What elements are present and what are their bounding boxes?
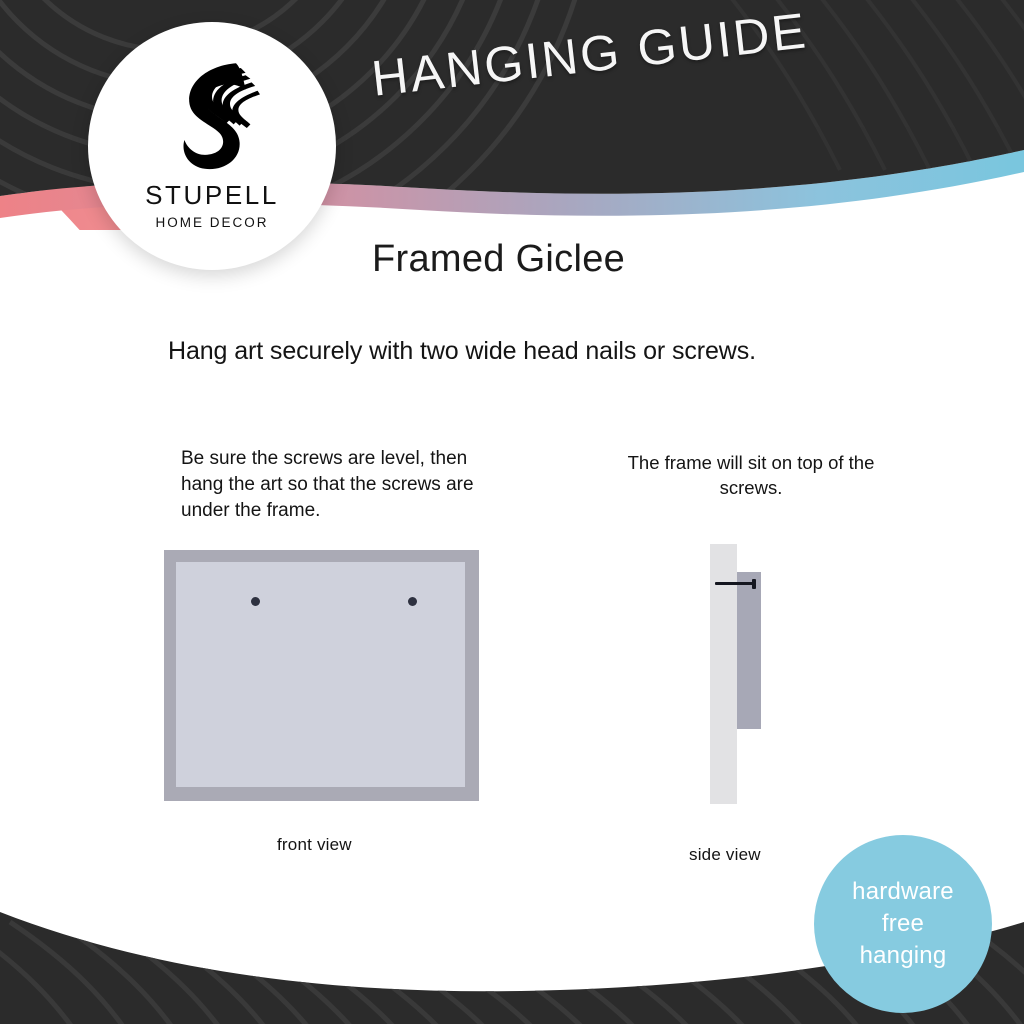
logo-wordmark: STUPELL: [145, 180, 279, 211]
side-view-caption: The frame will sit on top of the screws.: [611, 450, 891, 500]
badge-line-3: hanging: [860, 940, 947, 972]
frame-inner-panel: [176, 562, 465, 787]
brand-logo-badge: STUPELL HOME DECOR: [88, 22, 336, 270]
hardware-free-hanging-badge: hardware free hanging: [814, 835, 992, 1013]
screw-dot-right: [408, 597, 417, 606]
badge-line-1: hardware: [852, 876, 954, 908]
nail-shaft: [715, 582, 755, 585]
nail-head: [752, 579, 756, 589]
badge-line-2: free: [882, 908, 924, 940]
frame-side-strip: [737, 572, 761, 729]
front-view-diagram: [164, 550, 479, 801]
side-view-label: side view: [689, 845, 761, 865]
nail-side-icon: [715, 579, 757, 587]
screw-dot-left: [251, 597, 260, 606]
stupell-swoosh-logo-icon: [152, 56, 272, 176]
logo-tagline: HOME DECOR: [155, 215, 268, 230]
page-title: HANGING GUIDE: [369, 0, 892, 108]
front-view-label: front view: [277, 835, 352, 855]
instruction-lead-text: Hang art securely with two wide head nai…: [168, 337, 756, 366]
hanging-guide-page: STUPELL HOME DECOR HANGING GUIDE Framed …: [0, 0, 1024, 1024]
front-view-caption: Be sure the screws are level, then hang …: [181, 446, 481, 524]
product-type-title: Framed Giclee: [372, 238, 625, 281]
side-view-diagram: [708, 544, 766, 804]
